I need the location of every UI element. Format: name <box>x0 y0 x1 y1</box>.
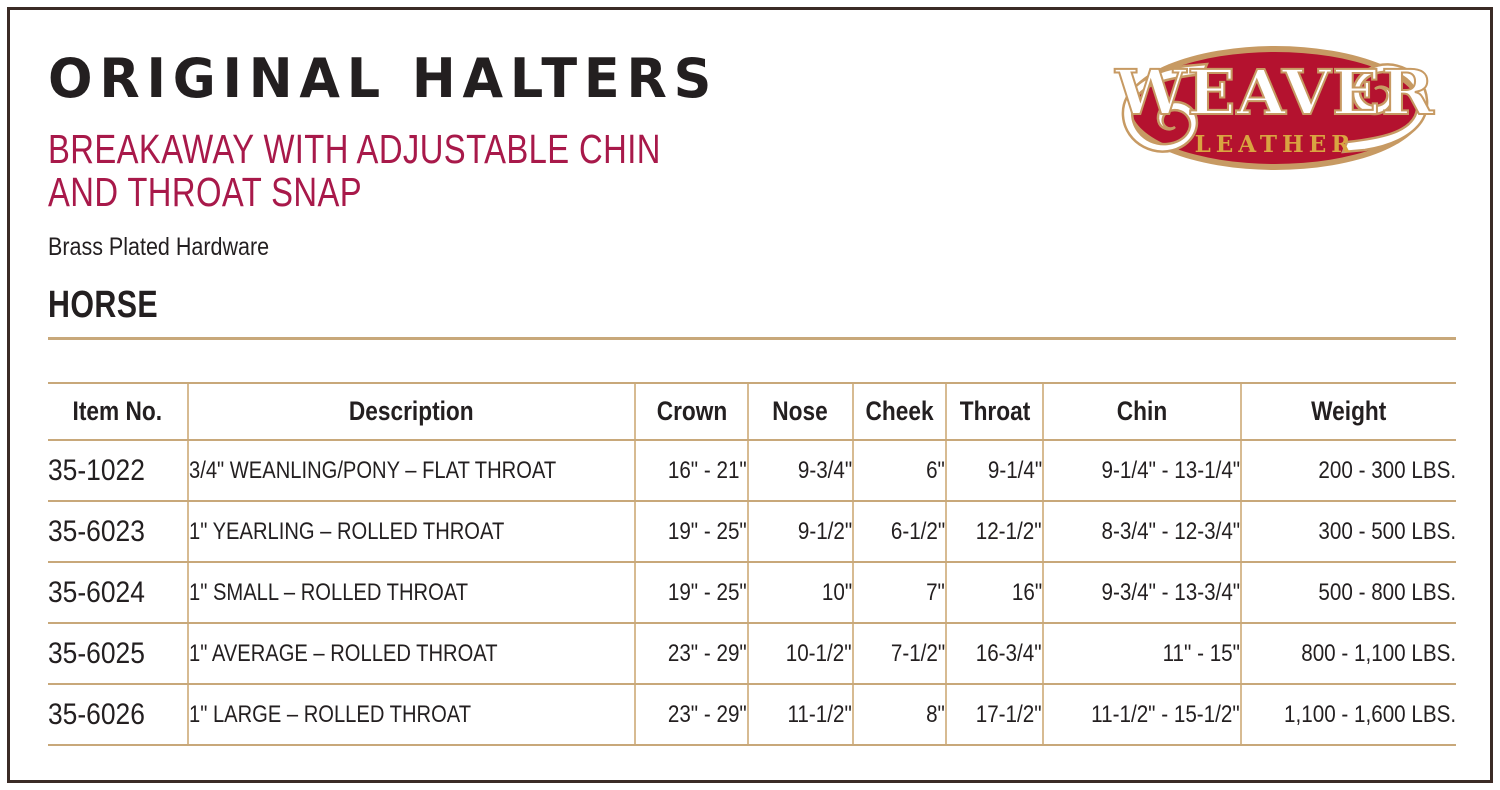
cell-description: 1" AVERAGE – ROLLED THROAT <box>188 623 635 684</box>
cell-nose: 10" <box>748 562 853 623</box>
cell-nose: 9-3/4" <box>748 440 853 501</box>
table-row: 35-6025 1" AVERAGE – ROLLED THROAT 23" -… <box>48 623 1456 684</box>
column-header-crown: Crown <box>635 383 748 440</box>
column-header-throat: Throat <box>946 383 1043 440</box>
spec-sheet-page: ORIGINAL HALTERS BREAKAWAY WITH ADJUSTAB… <box>0 0 1500 790</box>
cell-item-no: 35-1022 <box>48 440 188 501</box>
cell-cheek: 7" <box>853 562 946 623</box>
cell-nose: 9-1/2" <box>748 501 853 562</box>
cell-chin: 9-3/4" - 13-3/4" <box>1043 562 1241 623</box>
hardware-note: Brass Plated Hardware <box>48 233 1258 262</box>
cell-crown: 16" - 21" <box>635 440 748 501</box>
cell-item-no: 35-6024 <box>48 562 188 623</box>
cell-cheek: 7-1/2" <box>853 623 946 684</box>
cell-cheek: 8" <box>853 684 946 745</box>
spec-table-container: Item No. Description Crown Nose Cheek Th… <box>48 382 1455 746</box>
cell-description: 3/4" WEANLING/PONY – FLAT THROAT <box>188 440 635 501</box>
cell-throat: 16-3/4" <box>946 623 1043 684</box>
cell-crown: 23" - 29" <box>635 684 748 745</box>
cell-cheek: 6-1/2" <box>853 501 946 562</box>
cell-crown: 19" - 25" <box>635 562 748 623</box>
cell-throat: 16" <box>946 562 1043 623</box>
weaver-leather-logo: WEAVER LEATHER <box>1095 28 1455 188</box>
cell-crown: 19" - 25" <box>635 501 748 562</box>
cell-crown: 23" - 29" <box>635 623 748 684</box>
section-heading-horse: HORSE <box>48 284 1174 327</box>
table-row: 35-1022 3/4" WEANLING/PONY – FLAT THROAT… <box>48 440 1456 501</box>
logo-brand-text: WEAVER <box>1114 56 1435 129</box>
cell-throat: 9-1/4" <box>946 440 1043 501</box>
column-header-description: Description <box>188 383 635 440</box>
table-row: 35-6023 1" YEARLING – ROLLED THROAT 19" … <box>48 501 1456 562</box>
cell-description: 1" LARGE – ROLLED THROAT <box>188 684 635 745</box>
column-header-weight: Weight <box>1241 383 1456 440</box>
cell-weight: 800 - 1,100 LBS. <box>1241 623 1456 684</box>
cell-chin: 11" - 15" <box>1043 623 1241 684</box>
cell-description: 1" YEARLING – ROLLED THROAT <box>188 501 635 562</box>
section-divider <box>48 337 1456 340</box>
cell-weight: 500 - 800 LBS. <box>1241 562 1456 623</box>
page-subtitle: BREAKAWAY WITH ADJUSTABLE CHIN AND THROA… <box>48 128 1174 215</box>
spec-table: Item No. Description Crown Nose Cheek Th… <box>48 382 1456 746</box>
cell-weight: 1,100 - 1,600 LBS. <box>1241 684 1456 745</box>
cell-chin: 8-3/4" - 12-3/4" <box>1043 501 1241 562</box>
logo-sub-text: LEATHER <box>1195 131 1356 158</box>
cell-nose: 10-1/2" <box>748 623 853 684</box>
cell-nose: 11-1/2" <box>748 684 853 745</box>
cell-throat: 12-1/2" <box>946 501 1043 562</box>
table-header-row: Item No. Description Crown Nose Cheek Th… <box>48 383 1456 440</box>
column-header-chin: Chin <box>1043 383 1241 440</box>
cell-chin: 9-1/4" - 13-1/4" <box>1043 440 1241 501</box>
content-area: ORIGINAL HALTERS BREAKAWAY WITH ADJUSTAB… <box>48 52 1455 750</box>
table-row: 35-6026 1" LARGE – ROLLED THROAT 23" - 2… <box>48 684 1456 745</box>
column-header-nose: Nose <box>748 383 853 440</box>
subtitle-line-1: BREAKAWAY WITH ADJUSTABLE CHIN <box>48 128 1174 171</box>
cell-description: 1" SMALL – ROLLED THROAT <box>188 562 635 623</box>
cell-item-no: 35-6023 <box>48 501 188 562</box>
cell-weight: 300 - 500 LBS. <box>1241 501 1456 562</box>
cell-weight: 200 - 300 LBS. <box>1241 440 1456 501</box>
subtitle-line-2: AND THROAT SNAP <box>48 171 1174 214</box>
cell-chin: 11-1/2" - 15-1/2" <box>1043 684 1241 745</box>
cell-item-no: 35-6025 <box>48 623 188 684</box>
cell-item-no: 35-6026 <box>48 684 188 745</box>
cell-cheek: 6" <box>853 440 946 501</box>
column-header-cheek: Cheek <box>853 383 946 440</box>
cell-throat: 17-1/2" <box>946 684 1043 745</box>
table-row: 35-6024 1" SMALL – ROLLED THROAT 19" - 2… <box>48 562 1456 623</box>
column-header-item-no: Item No. <box>48 383 188 440</box>
